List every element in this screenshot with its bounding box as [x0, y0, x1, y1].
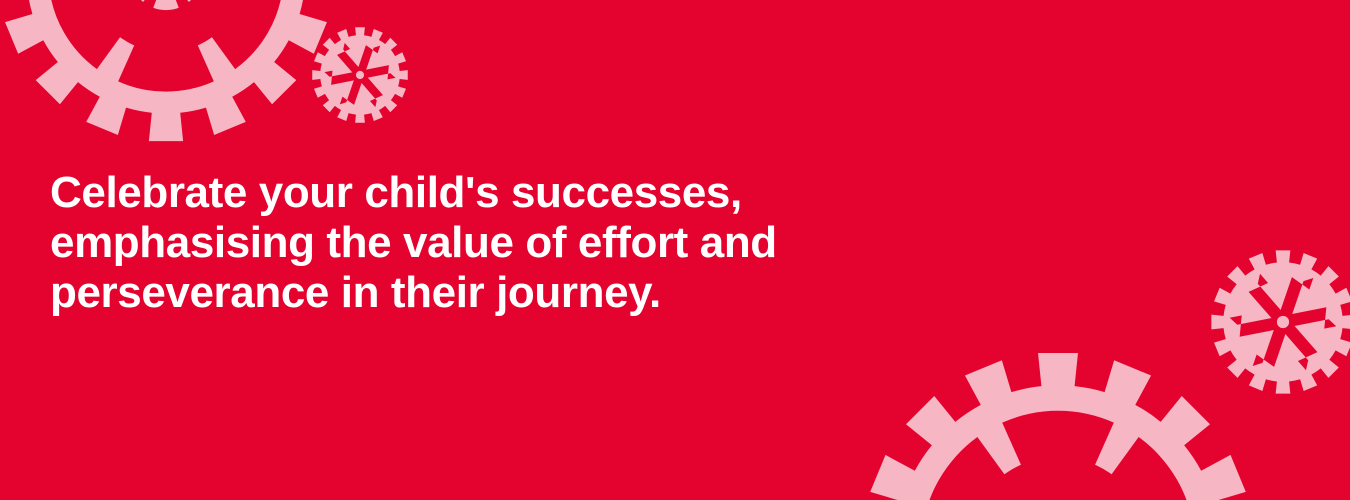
- gear-top-small-pinwheel: [312, 27, 408, 123]
- gear-right-pinwheel: [1211, 250, 1350, 393]
- quote-text-block: Celebrate your child's successes, emphas…: [50, 168, 1150, 318]
- quote-line-2: emphasising the value of effort and: [50, 218, 1150, 268]
- gear-bottom-right-large: [863, 353, 1253, 500]
- quote-line-1: Celebrate your child's successes,: [50, 168, 1150, 218]
- quote-line-3: perseverance in their journey.: [50, 268, 1150, 318]
- quote-banner: Celebrate your child's successes, emphas…: [0, 0, 1350, 500]
- gear-top-left-large: [0, 0, 333, 141]
